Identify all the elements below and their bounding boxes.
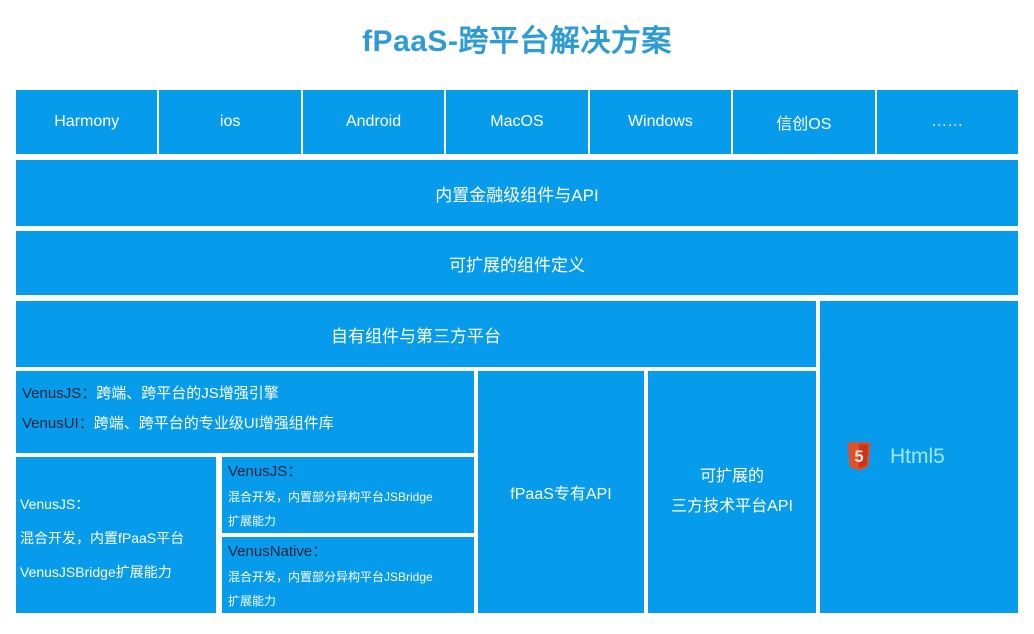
band-extensible-definition[interactable]: 可扩展的组件定义 (16, 231, 1018, 295)
venus-js-bridge-line2: 扩展能力 (228, 509, 470, 533)
venus-js-description-line: VenusJS：跨端、跨平台的JS增强引擎 (22, 379, 470, 409)
venus-description-block[interactable]: VenusJS：跨端、跨平台的JS增强引擎 VenusUI：跨端、跨平台的专业级… (16, 371, 474, 453)
venus-js-hybrid-label: VenusJS： (20, 487, 210, 521)
band-core-components[interactable]: 内置金融级组件与API (16, 160, 1018, 226)
os-cell-ios[interactable]: ios (159, 90, 300, 154)
os-cell-windows[interactable]: Windows (590, 90, 731, 154)
venus-ui-text: 跨端、跨平台的专业级UI增强组件库 (94, 415, 334, 432)
venus-js-bridge-line1: 混合开发，内置部分异构平台JSBridge (228, 485, 470, 509)
os-cell-macos[interactable]: MacOS (446, 90, 587, 154)
third-party-api-column[interactable]: 可扩展的 三方技术平台API (648, 371, 816, 613)
svg-text:5: 5 (854, 448, 863, 466)
venus-js-bridge-label: VenusJS： (228, 459, 470, 485)
venus-native-line1: 混合开发，内置部分异构平台JSBridge (228, 565, 470, 589)
html5-shield-icon: 5 (846, 442, 872, 472)
page-title: fPaaS-跨平台解决方案 (0, 16, 1034, 60)
venus-js-hybrid-block[interactable]: VenusJS： 混合开发，内置fPaaS平台 VenusJSBridge扩展能… (16, 457, 216, 613)
html5-label: Html5 (890, 445, 945, 469)
band-third-party-platform[interactable]: 自有组件与第三方平台 (16, 301, 816, 367)
venus-native-label: VenusNative： (228, 539, 470, 565)
diagram-canvas: fPaaS-跨平台解决方案 Harmony ios Android MacOS … (0, 0, 1034, 634)
third-party-api-line1: 可扩展的 (671, 462, 793, 492)
venus-js-label: VenusJS： (22, 385, 96, 402)
html5-column[interactable]: 5 Html5 (820, 301, 1018, 613)
fpaas-own-api-column[interactable]: fPaaS专有API (478, 371, 644, 613)
venus-ui-description-line: VenusUI：跨端、跨平台的专业级UI增强组件库 (22, 409, 470, 439)
venus-js-bridge-block[interactable]: VenusJS： 混合开发，内置部分异构平台JSBridge 扩展能力 (222, 457, 474, 533)
os-platform-row: Harmony ios Android MacOS Windows 信创OS …… (16, 90, 1018, 154)
third-party-api-line2: 三方技术平台API (671, 492, 793, 522)
os-cell-xinchuang-os[interactable]: 信创OS (733, 90, 874, 154)
venus-native-block[interactable]: VenusNative： 混合开发，内置部分异构平台JSBridge 扩展能力 (222, 537, 474, 613)
venus-native-line2: 扩展能力 (228, 589, 470, 613)
os-cell-harmony[interactable]: Harmony (16, 90, 157, 154)
os-cell-android[interactable]: Android (303, 90, 444, 154)
os-cell-more[interactable]: …… (877, 90, 1018, 154)
venus-ui-label: VenusUI： (22, 415, 94, 432)
venus-js-text: 跨端、跨平台的JS增强引擎 (96, 385, 279, 402)
venus-js-hybrid-line1: 混合开发，内置fPaaS平台 (20, 521, 210, 555)
venus-js-hybrid-line2: VenusJSBridge扩展能力 (20, 555, 210, 589)
